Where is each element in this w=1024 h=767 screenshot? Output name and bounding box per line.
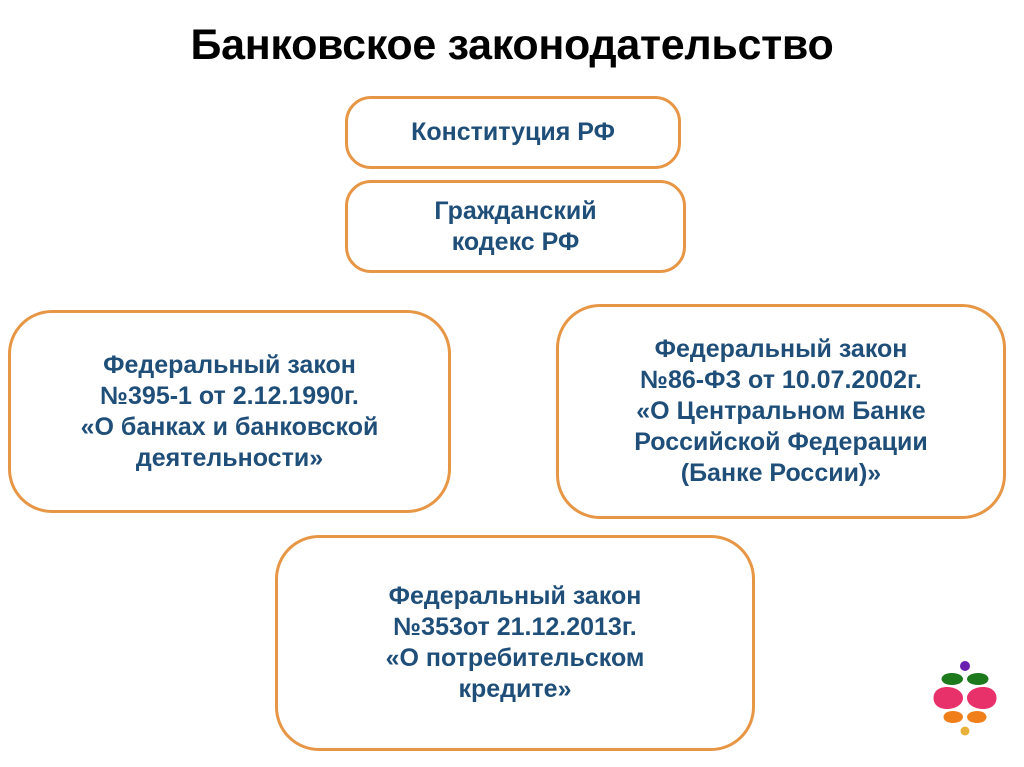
text-line: Конституция РФ [411, 117, 615, 148]
slide-canvas: Банковское законодательство Конституция … [0, 0, 1024, 767]
law-box-civil-code-label: Гражданскийкодекс РФ [420, 196, 610, 258]
text-line: (Банке России)» [634, 458, 928, 489]
text-line: Российской Федерации [634, 427, 928, 458]
law-box-federal-law-353-label: Федеральный закон№353от 21.12.2013г.«О п… [372, 581, 659, 705]
text-line: кредите» [386, 674, 645, 705]
text-line: «О потребительском [386, 643, 645, 674]
butterfly-petals-logo-icon [932, 660, 998, 736]
text-line: «О банках и банковской [81, 412, 379, 443]
law-box-federal-law-395-label: Федеральный закон№395-1 от 2.12.1990г.«О… [67, 350, 393, 474]
text-line: №353от 21.12.2013г. [386, 612, 645, 643]
text-line: №86-ФЗ от 10.07.2002г. [634, 365, 928, 396]
law-box-federal-law-353: Федеральный закон№353от 21.12.2013г.«О п… [275, 535, 755, 751]
page-title: Банковское законодательство [0, 22, 1024, 69]
text-line: Федеральный закон [81, 350, 379, 381]
law-box-federal-law-86-label: Федеральный закон№86-ФЗ от 10.07.2002г.«… [620, 334, 942, 489]
text-line: Федеральный закон [386, 581, 645, 612]
law-box-constitution-label: Конституция РФ [397, 117, 629, 148]
law-box-civil-code: Гражданскийкодекс РФ [345, 180, 686, 273]
text-line: Федеральный закон [634, 334, 928, 365]
law-box-constitution: Конституция РФ [345, 96, 681, 169]
text-line: деятельности» [81, 443, 379, 474]
text-line: «О Центральном Банке [634, 396, 928, 427]
law-box-federal-law-395: Федеральный закон№395-1 от 2.12.1990г.«О… [8, 310, 451, 513]
law-box-federal-law-86: Федеральный закон№86-ФЗ от 10.07.2002г.«… [556, 304, 1006, 519]
text-line: Гражданский [434, 196, 596, 227]
text-line: кодекс РФ [434, 227, 596, 258]
text-line: №395-1 от 2.12.1990г. [81, 381, 379, 412]
